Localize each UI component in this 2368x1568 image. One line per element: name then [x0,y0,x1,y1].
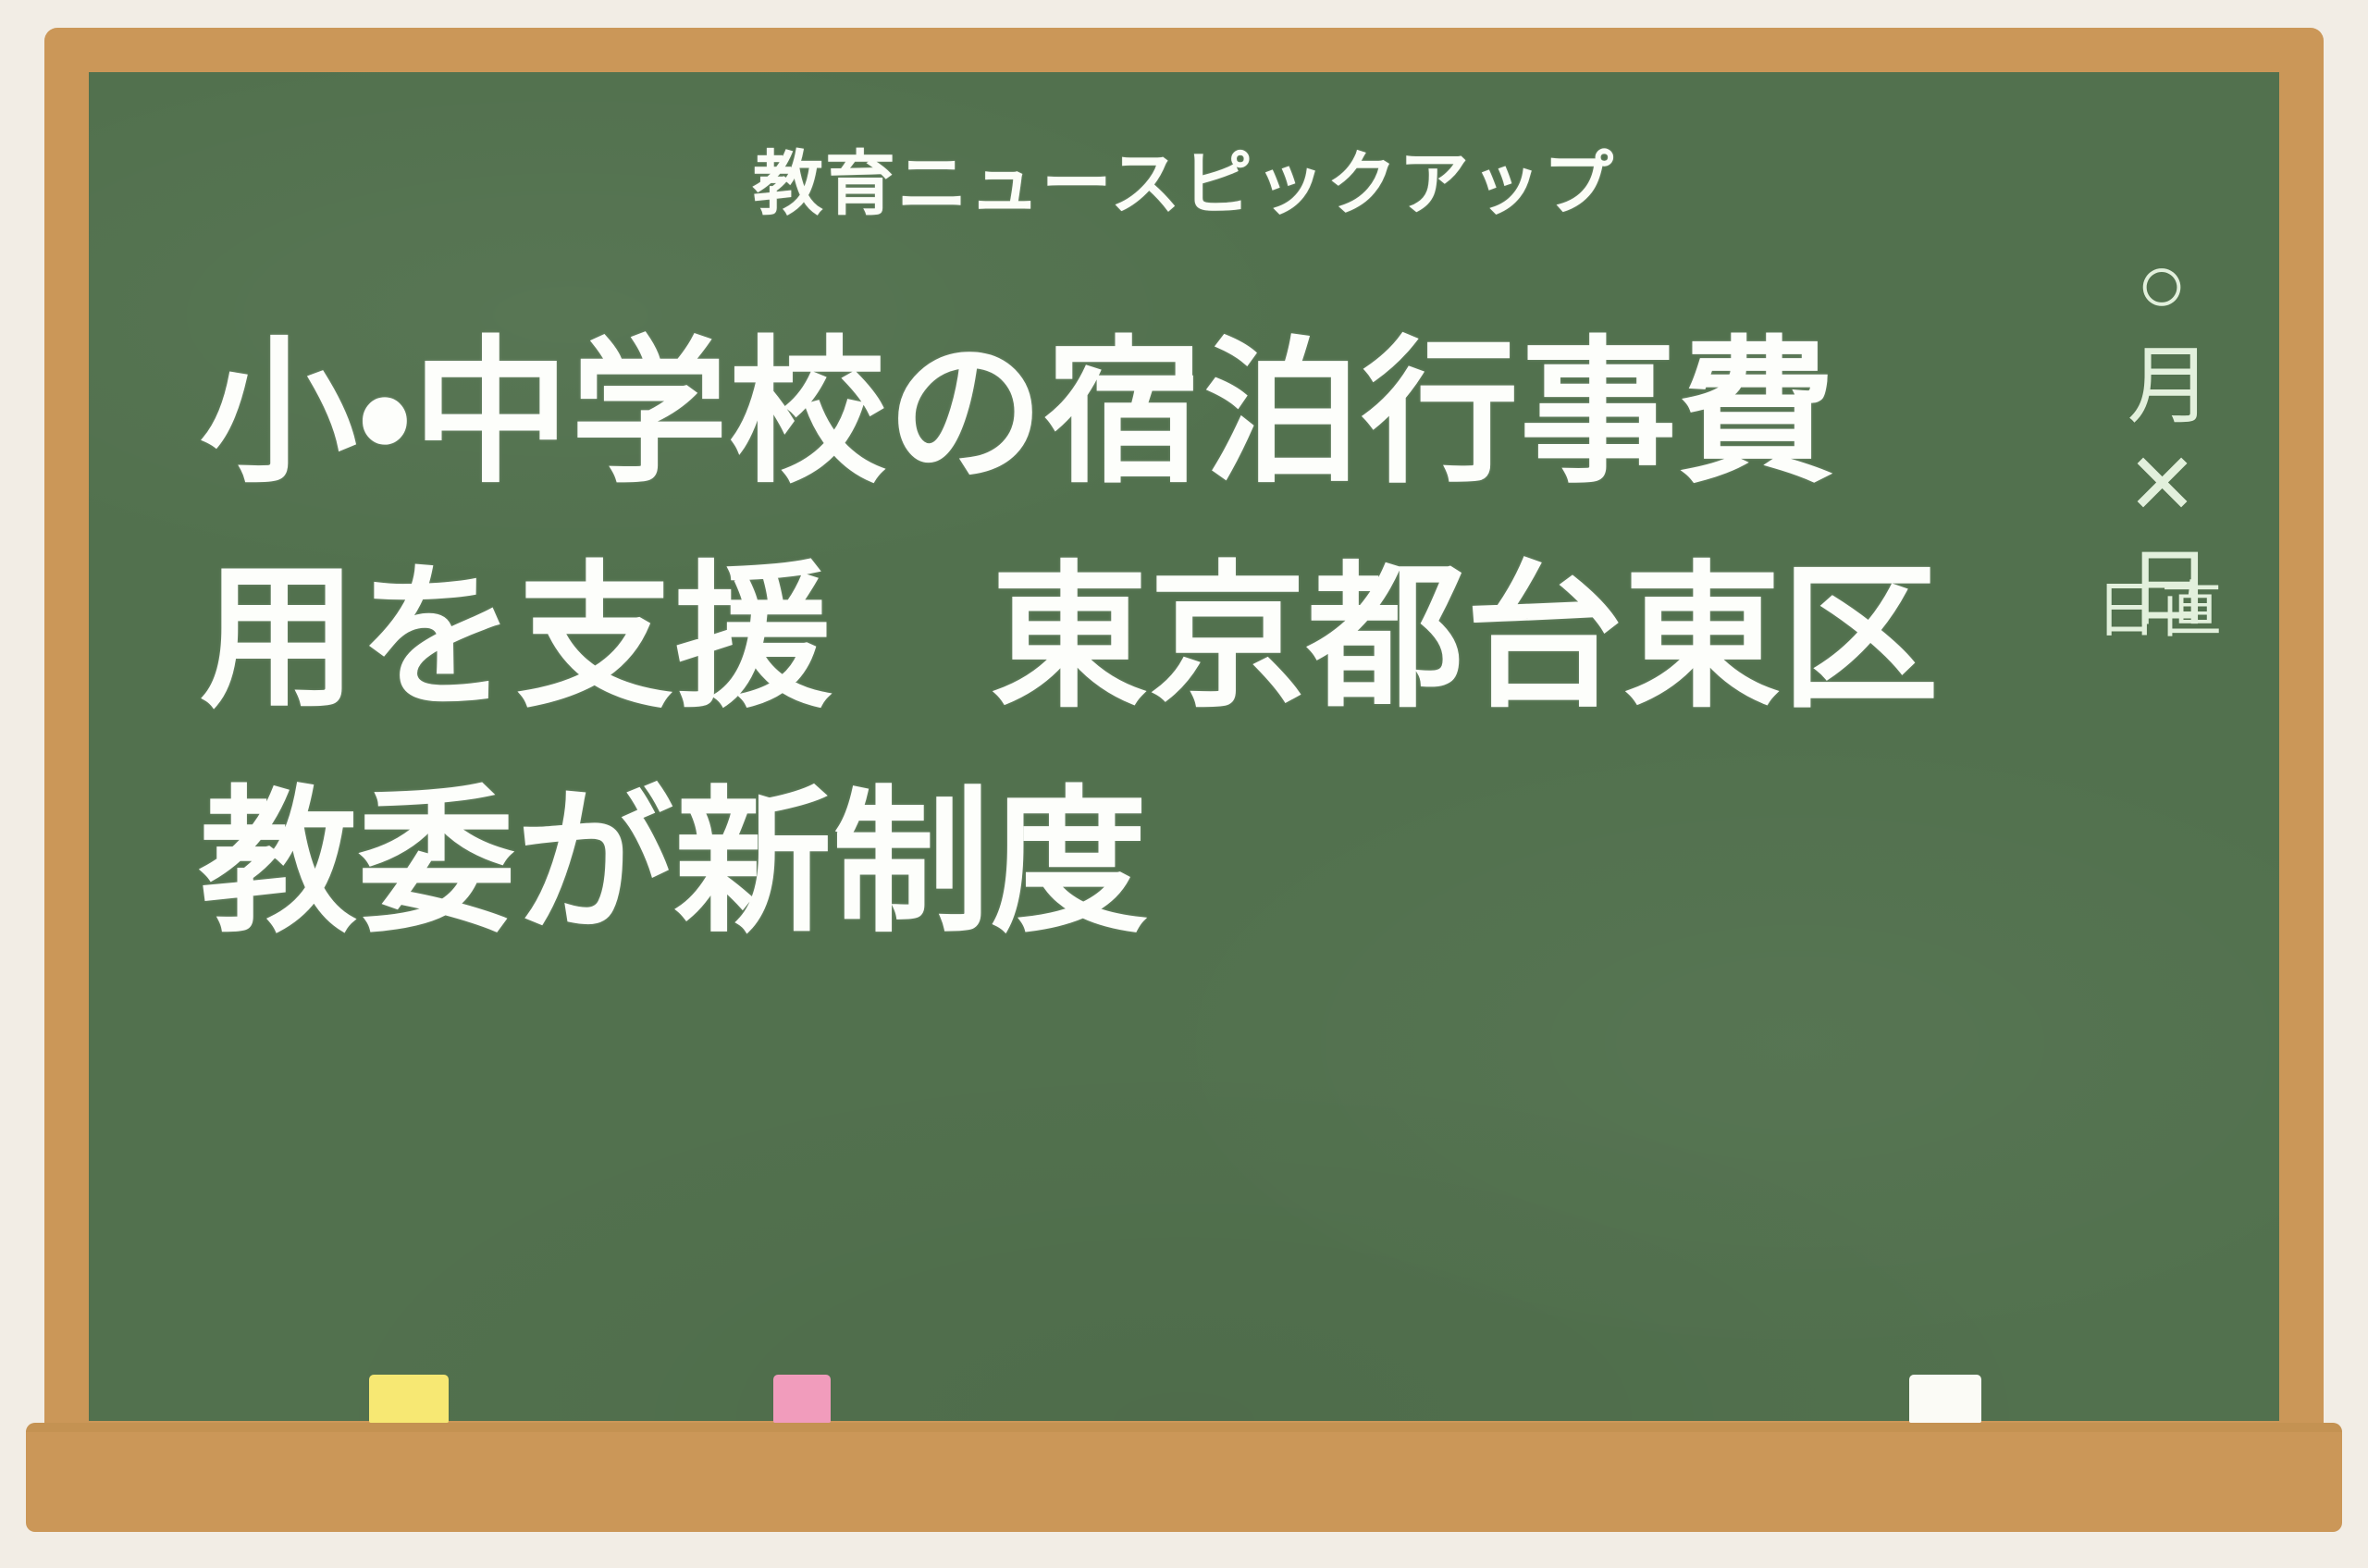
card-headline: 小・中学校の宿泊行事費用を支援 東京都台東区教委が新制度 [200,302,1948,976]
chalk-ledge [26,1423,2342,1532]
chalk-ledge-shadow [26,1423,2342,1432]
chalkboard-surface: 教育ニュースピックアップ 小・中学校の宿泊行事費用を支援 東京都台東区教委が新制… [89,72,2279,1421]
card-subtitle: 教育ニュースピックアップ [89,150,2279,220]
duty-label: 日直 [2096,579,2226,640]
chalkboard-card: 教育ニュースピックアップ 小・中学校の宿泊行事費用を支援 東京都台東区教委が新制… [0,0,2368,1568]
